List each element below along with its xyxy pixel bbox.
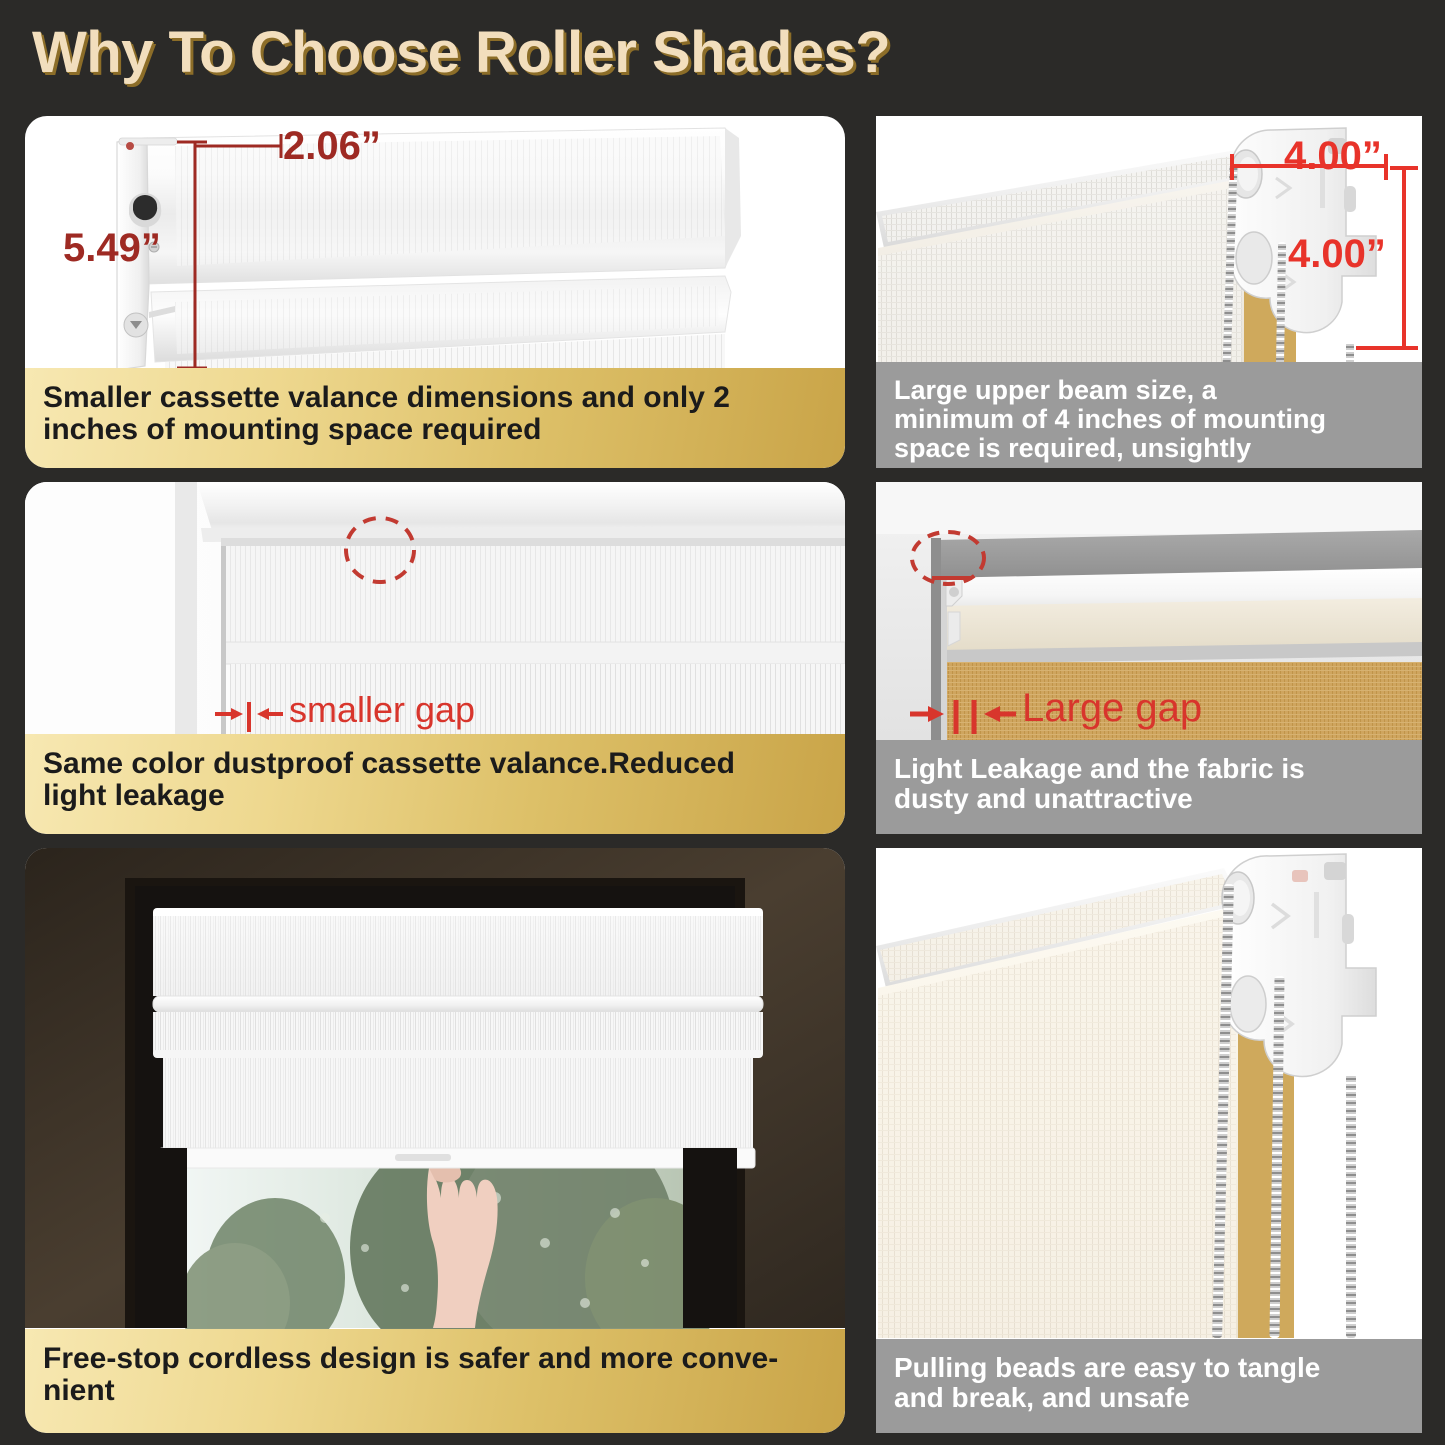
gap-label-smaller: smaller gap [289,692,475,728]
dimension-label-beam-width: 4.00” [1284,136,1382,176]
window-scene-illustration [25,848,845,1328]
caption-smaller-gap: Same color dustproof cassette valance.Re… [25,734,845,834]
dimension-label-width-206: 2.06” [283,126,381,166]
page-title: Why To Choose Roller Shades? [32,19,890,86]
caption-cordless-design: Free-stop cordless design is safer and m… [25,1329,845,1433]
beaded-roller-illustration [876,848,1422,1338]
panel-large-upper-beam: 4.00” 4.00” Large upper beam size, a min… [876,116,1422,468]
bead-chain-right [1346,1074,1356,1338]
gap-label-large: Large gap [1022,688,1202,728]
caption-pulling-beads: Pulling beads are easy to tangle and bre… [876,1339,1422,1433]
panel-pulling-beads: Pulling beads are easy to tangle and bre… [876,848,1422,1433]
caption-large-upper-beam: Large upper beam size, a minimum of 4 in… [876,362,1422,468]
panel-large-gap: Large gap Light Leakage and the fabric i… [876,482,1422,834]
panel-smaller-gap: smaller gap Same color dustproof cassett… [25,482,845,834]
caption-smaller-cassette: Smaller cassette valance dimensions and … [25,368,845,468]
comparison-grid: 2.06” 5.49” Smaller cassette valance dim… [0,104,1445,1445]
caption-large-gap: Light Leakage and the fabric is dusty an… [876,740,1422,834]
page-header: Why To Choose Roller Shades? [0,0,1445,104]
panel-smaller-cassette: 2.06” 5.49” Smaller cassette valance dim… [25,116,845,468]
dimension-label-beam-height: 4.00” [1288,234,1386,274]
panel-cordless-design: Free-stop cordless design is safer and m… [25,848,845,1433]
dimension-label-height-549: 5.49” [63,228,161,268]
